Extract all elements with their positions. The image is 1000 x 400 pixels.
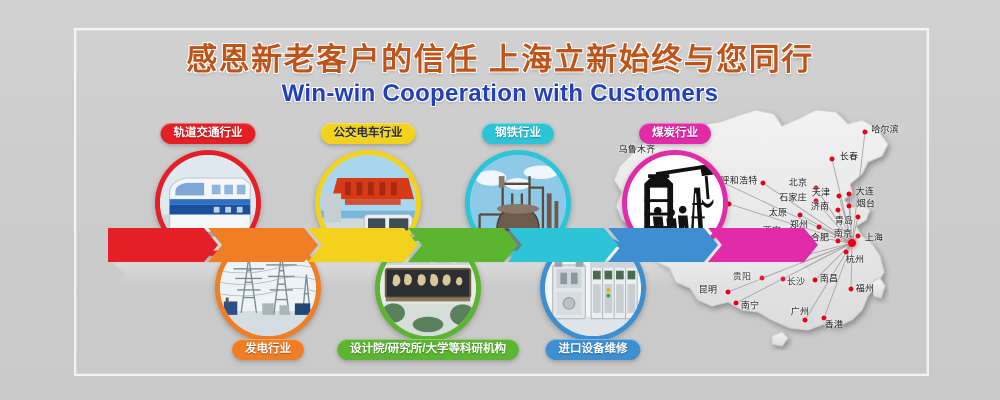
industry-label-imported[interactable]: 进口设备维修 (546, 339, 641, 360)
page-title-cn: 感恩新老客户的信任 上海立新始终与您同行 (0, 42, 1000, 78)
map-city-dot (856, 215, 861, 220)
ribbon-segment (508, 228, 618, 262)
map-city-label: 济南 (811, 200, 829, 213)
map-city-dot (847, 204, 852, 209)
industry-ribbon (108, 228, 808, 262)
map-hub-dot (848, 239, 856, 247)
ribbon-segment (408, 228, 518, 262)
map-city-label: 南京 (834, 227, 852, 240)
map-city-dot (761, 181, 766, 186)
industry-label-coal[interactable]: 煤炭行业 (639, 123, 711, 144)
map-city-dot (734, 301, 739, 306)
map-city-dot (849, 287, 854, 292)
map-city-dot (856, 234, 861, 239)
map-city-dot (813, 278, 818, 283)
map-city-dot (830, 157, 835, 162)
map-city-label: 石家庄 (779, 191, 807, 204)
map-city-label: 乌鲁木齐 (619, 143, 656, 156)
map-city-label: 青岛 (835, 214, 853, 227)
map-city-label: 哈尔滨 (871, 123, 899, 136)
map-city-dot (863, 130, 868, 135)
ribbon-segment (708, 228, 818, 262)
industry-label-bus[interactable]: 公交电车行业 (321, 123, 416, 144)
map-city-label: 杭州 (846, 253, 864, 266)
map-city-dot (803, 318, 808, 323)
map-hub-label: 上海 (865, 231, 883, 244)
map-city-label: 福州 (856, 282, 874, 295)
map-city-label: 广州 (791, 305, 809, 318)
map-city-dot (726, 290, 731, 295)
map-city-label: 香港 (825, 318, 843, 331)
ribbon-segment (608, 228, 718, 262)
map-city-label: 呼和浩特 (721, 174, 758, 187)
map-city-dot (837, 194, 842, 199)
ribbon-segment (308, 228, 418, 262)
ribbon-segment (108, 228, 218, 262)
banner-stage: 哈尔滨长春乌鲁木齐呼和浩特银川北京天津大连石家庄太原济南烟台青岛西安郑州合肥南京… (0, 0, 1000, 400)
map-city-label: 烟台 (857, 197, 875, 210)
map-city-label: 长春 (840, 150, 858, 163)
headline-block: 感恩新老客户的信任 上海立新始终与您同行 Win-win Cooperation… (0, 42, 1000, 108)
map-city-label: 南昌 (820, 272, 838, 285)
map-city-dot (847, 192, 852, 197)
industry-label-research[interactable]: 设计院/研究所/大学等科研机构 (337, 339, 519, 360)
map-city-label: 北京 (789, 176, 807, 189)
map-city-dot (836, 208, 841, 213)
ribbon-segment (208, 228, 318, 262)
map-city-label: 太原 (769, 206, 787, 219)
industry-label-steel[interactable]: 钢铁行业 (482, 123, 554, 144)
map-city-label: 天津 (812, 186, 830, 199)
industry-label-rail[interactable]: 轨道交通行业 (161, 123, 256, 144)
industry-label-power[interactable]: 发电行业 (232, 339, 304, 360)
page-title-en: Win-win Cooperation with Customers (0, 80, 1000, 108)
map-city-label: 南宁 (741, 299, 759, 312)
